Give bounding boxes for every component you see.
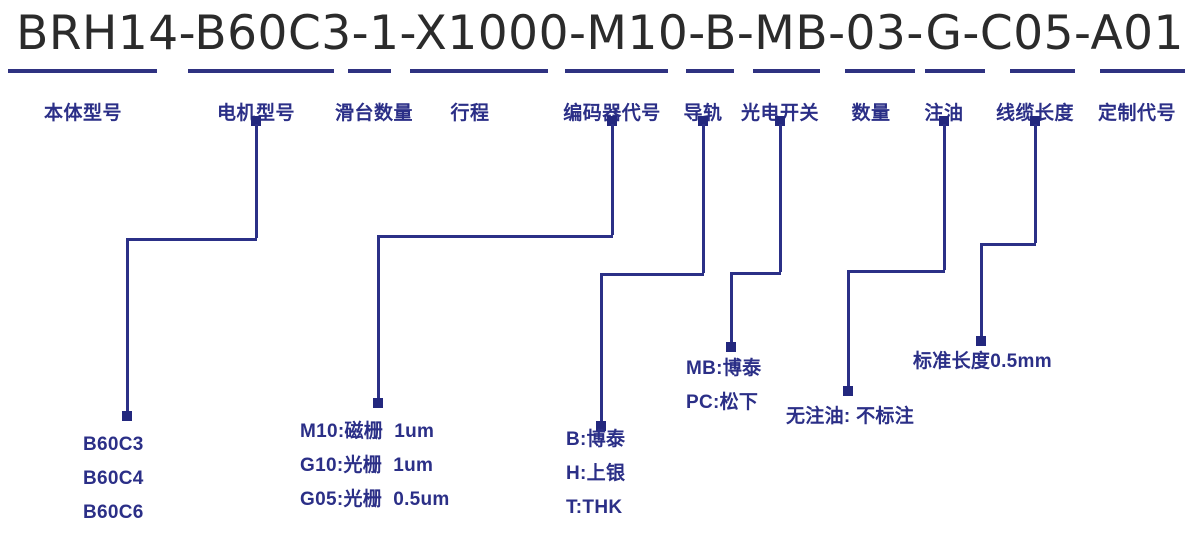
field-rule-motor-model (188, 69, 334, 73)
leader-photo-switch-segment-down (779, 124, 782, 272)
leader-guide-rail-segment-across (600, 273, 704, 276)
photo-switch-options-line: PC:松下 (686, 386, 761, 420)
body-model-options: B60C3B60C4B60C6 (83, 428, 144, 530)
field-label-body-model: 本体型号 (44, 98, 122, 125)
leader-oiling-segment-down (943, 124, 946, 270)
field-rule-quantity (845, 69, 915, 73)
field-rule-stroke (410, 69, 548, 73)
photo-switch-options-line: MB:博泰 (686, 352, 761, 386)
guide-rail-options: B:博泰H:上银T:THK (566, 423, 625, 525)
field-label-slider-count: 滑台数量 (335, 98, 413, 125)
guide-rail-options-line: T:THK (566, 491, 625, 525)
body-model-options-line: B60C6 (83, 496, 144, 530)
field-rule-guide-rail (686, 69, 734, 73)
motor-model-options-line: G05:光栅 0.5um (300, 483, 450, 517)
body-model-options-line: B60C3 (83, 428, 144, 462)
field-rule-body-model (8, 69, 157, 73)
leader-oiling-segment-across (847, 270, 945, 273)
field-rule-photo-switch (753, 69, 820, 73)
field-label-stroke: 行程 (450, 98, 489, 125)
leader-guide-rail-segment-tail (600, 273, 603, 423)
field-label-custom-code: 定制代号 (1098, 98, 1176, 125)
photo-switch-options: MB:博泰PC:松下 (686, 352, 761, 420)
field-rule-slider-count (348, 69, 391, 73)
motor-model-options-line: G10:光栅 1um (300, 449, 450, 483)
leader-body-model-segment-across (126, 238, 257, 241)
field-rule-encoder-code (565, 69, 668, 73)
cable-length-options-line: 标准长度0.5mm (913, 345, 1052, 379)
leader-guide-rail-segment-down (702, 124, 705, 273)
field-label-quantity: 数量 (851, 98, 890, 125)
leader-oiling-segment-tail (847, 270, 850, 388)
field-rule-oiling (925, 69, 985, 73)
leader-photo-switch-segment-across (730, 272, 781, 275)
field-rule-cable-length (1010, 69, 1075, 73)
oiling-options: 无注油: 不标注 (786, 400, 914, 434)
leader-cable-length-segment-across (980, 243, 1036, 246)
leader-motor-model-segment-down (611, 124, 614, 235)
leader-cable-length-segment-tail (980, 243, 983, 338)
leader-photo-switch-end-node (726, 342, 736, 352)
field-rule-custom-code (1100, 69, 1185, 73)
leader-photo-switch-segment-tail (730, 272, 733, 344)
guide-rail-options-line: H:上银 (566, 457, 625, 491)
model-code-breakdown-diagram: BRH14-B60C3-1-X1000-M10-B-MB-03-G-C05-A0… (0, 0, 1200, 550)
leader-motor-model-segment-across (377, 235, 613, 238)
motor-model-options-line: M10:磁栅 1um (300, 415, 450, 449)
leader-cable-length-segment-down (1034, 124, 1037, 243)
guide-rail-options-line: B:博泰 (566, 423, 625, 457)
oiling-options-line: 无注油: 不标注 (786, 400, 914, 434)
body-model-options-line: B60C4 (83, 462, 144, 496)
leader-body-model-segment-tail (126, 238, 129, 413)
leader-oiling-end-node (843, 386, 853, 396)
leader-body-model-segment-down (255, 124, 258, 238)
leader-motor-model-end-node (373, 398, 383, 408)
leader-motor-model-segment-tail (377, 235, 380, 400)
leader-body-model-end-node (122, 411, 132, 421)
model-code-title: BRH14-B60C3-1-X1000-M10-B-MB-03-G-C05-A0… (0, 6, 1200, 61)
motor-model-options: M10:磁栅 1umG10:光栅 1umG05:光栅 0.5um (300, 415, 450, 517)
cable-length-options: 标准长度0.5mm (913, 345, 1052, 379)
